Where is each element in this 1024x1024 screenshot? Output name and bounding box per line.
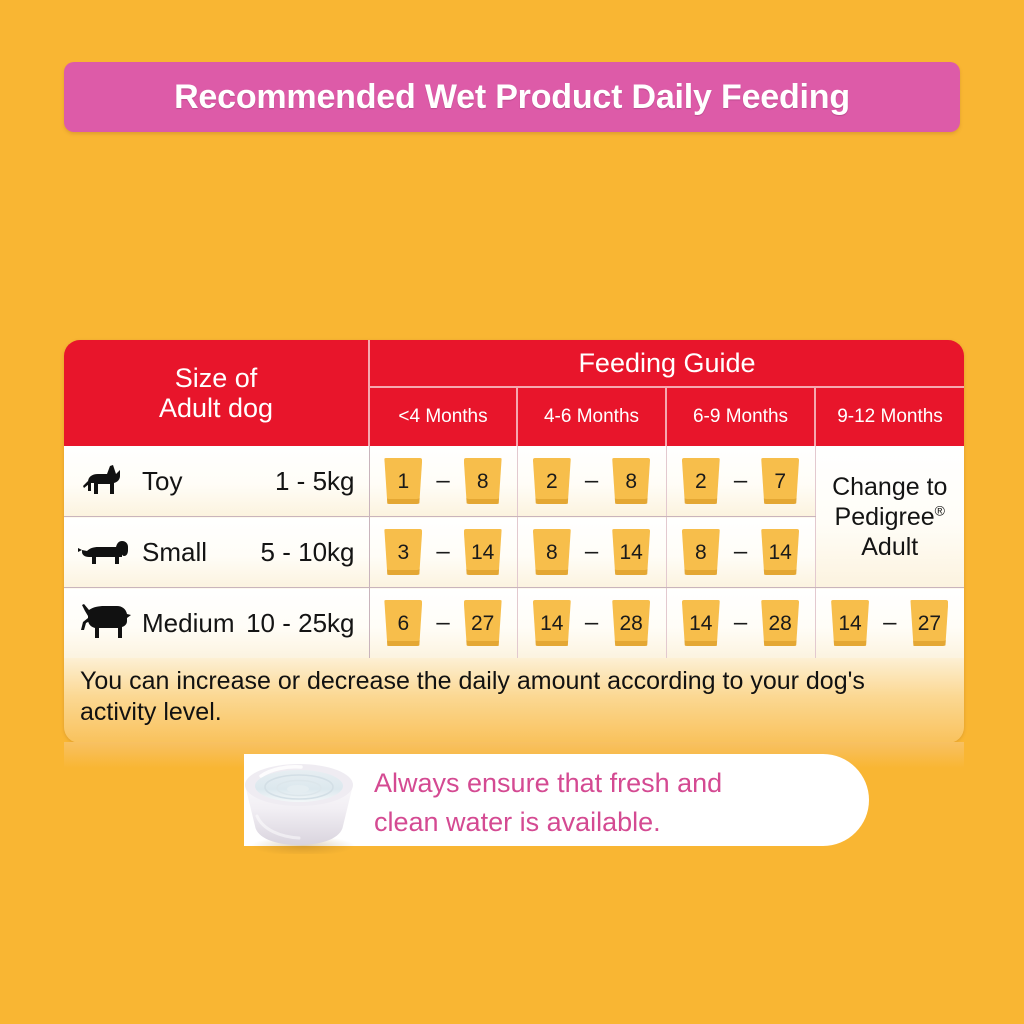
weight-label-medium: 10 - 25kg: [246, 608, 354, 639]
table-body: Toy 1 - 5kg 1 – 8 2 – 8: [64, 446, 964, 658]
cup-max-value: 27: [918, 613, 941, 634]
header-column-2: 6-9 Months: [666, 387, 815, 446]
medium-dog-icon: [76, 602, 136, 644]
feeding-guide-card: Size of Adult dog Feeding Guide <4 Month…: [64, 340, 964, 743]
feeding-cell-small-under4: 3 – 14: [369, 517, 517, 588]
weight-label-small: 5 - 10kg: [261, 537, 355, 568]
feeding-cell-toy-4to6: 2 – 8: [517, 446, 666, 517]
size-label-small: Small: [142, 537, 207, 568]
cup-max-value: 8: [625, 471, 637, 492]
table-header: Size of Adult dog Feeding Guide <4 Month…: [64, 340, 964, 446]
page-title: Recommended Wet Product Daily Feeding: [174, 78, 850, 117]
header-size-of-adult-dog: Size of Adult dog: [64, 340, 369, 446]
cup-min-value: 2: [695, 471, 707, 492]
cup-icon: 8: [682, 529, 720, 575]
feeding-cell-medium-4to6: 14 – 28: [517, 588, 666, 659]
cup-icon: 8: [612, 458, 650, 504]
title-banner: Recommended Wet Product Daily Feeding: [64, 62, 960, 132]
size-label-medium: Medium: [142, 608, 234, 639]
cup-icon: 2: [682, 458, 720, 504]
activity-note: You can increase or decrease the daily a…: [64, 658, 964, 743]
cup-max-value: 14: [471, 542, 494, 563]
feeding-cell-medium-9to12: 14 – 27: [815, 588, 964, 659]
table-row: Medium 10 - 25kg 6 – 27 14 – 28: [64, 588, 964, 659]
change-line-1: Change to: [816, 472, 965, 502]
feeding-cell-small-4to6: 8 – 14: [517, 517, 666, 588]
cup-min-value: 14: [540, 613, 563, 634]
cup-icon: 14: [761, 529, 799, 575]
water-callout: Always ensure that fresh and clean water…: [64, 742, 964, 872]
header-column-3: 9-12 Months: [815, 387, 964, 446]
feeding-cell-small-6to9: 8 – 14: [666, 517, 815, 588]
cup-min-value: 3: [397, 542, 409, 563]
cup-min-value: 2: [546, 471, 558, 492]
cup-icon: 1: [384, 458, 422, 504]
range-dash: –: [436, 540, 449, 564]
cup-min-value: 8: [695, 542, 707, 563]
cup-icon: 27: [464, 600, 502, 646]
cup-icon: 2: [533, 458, 571, 504]
cup-icon: 8: [464, 458, 502, 504]
header-feeding-guide: Feeding Guide: [369, 340, 964, 387]
feeding-cell-toy-6to9: 2 – 7: [666, 446, 815, 517]
cup-max-value: 28: [768, 613, 791, 634]
feeding-cell-medium-6to9: 14 – 28: [666, 588, 815, 659]
cup-icon: 6: [384, 600, 422, 646]
brand-name: Pedigree: [835, 503, 935, 531]
cup-max-value: 7: [774, 471, 786, 492]
header-size-line2: Adult dog: [64, 393, 368, 423]
feeding-table: Size of Adult dog Feeding Guide <4 Month…: [64, 340, 964, 658]
registered-mark: ®: [935, 502, 945, 518]
range-dash: –: [734, 540, 747, 564]
feeding-cell-toy-under4: 1 – 8: [369, 446, 517, 517]
header-column-1: 4-6 Months: [517, 387, 666, 446]
water-text-line2: clean water is available.: [374, 803, 844, 842]
small-dog-icon: [76, 533, 136, 571]
range-dash: –: [585, 469, 598, 493]
table-row: Toy 1 - 5kg 1 – 8 2 – 8: [64, 446, 964, 517]
cup-icon: 14: [533, 600, 571, 646]
header-size-line1: Size of: [64, 363, 368, 393]
cup-max-value: 28: [619, 613, 642, 634]
cup-max-value: 14: [768, 542, 791, 563]
size-cell-small: Small 5 - 10kg: [64, 517, 369, 588]
cup-icon: 28: [612, 600, 650, 646]
cup-icon: 14: [612, 529, 650, 575]
cup-min-value: 1: [397, 471, 409, 492]
water-text-line1: Always ensure that fresh and: [374, 764, 844, 803]
cup-max-value: 14: [619, 542, 642, 563]
water-bowl-icon: [231, 754, 371, 854]
header-column-0: <4 Months: [369, 387, 517, 446]
range-dash: –: [585, 540, 598, 564]
feeding-cell-medium-under4: 6 – 27: [369, 588, 517, 659]
cup-min-value: 14: [838, 613, 861, 634]
size-label-toy: Toy: [142, 466, 182, 497]
weight-label-toy: 1 - 5kg: [275, 466, 355, 497]
cup-icon: 14: [464, 529, 502, 575]
size-cell-medium: Medium 10 - 25kg: [64, 588, 369, 659]
cup-min-value: 14: [689, 613, 712, 634]
change-line-3: Adult: [816, 532, 965, 562]
cup-icon: 14: [831, 600, 869, 646]
size-cell-toy: Toy 1 - 5kg: [64, 446, 369, 517]
range-dash: –: [734, 469, 747, 493]
cup-icon: 27: [910, 600, 948, 646]
toy-dog-icon: [76, 461, 136, 501]
cup-icon: 28: [761, 600, 799, 646]
cup-max-value: 27: [471, 613, 494, 634]
cup-icon: 7: [761, 458, 799, 504]
range-dash: –: [734, 611, 747, 635]
change-to-adult-cell: Change to Pedigree® Adult: [815, 446, 964, 588]
range-dash: –: [883, 611, 896, 635]
water-callout-text: Always ensure that fresh and clean water…: [374, 764, 844, 842]
cup-icon: 14: [682, 600, 720, 646]
cup-icon: 8: [533, 529, 571, 575]
change-line-2: Pedigree®: [816, 502, 965, 532]
cup-min-value: 6: [397, 613, 409, 634]
range-dash: –: [436, 611, 449, 635]
cup-min-value: 8: [546, 542, 558, 563]
range-dash: –: [585, 611, 598, 635]
range-dash: –: [436, 469, 449, 493]
cup-icon: 3: [384, 529, 422, 575]
cup-max-value: 8: [477, 471, 489, 492]
